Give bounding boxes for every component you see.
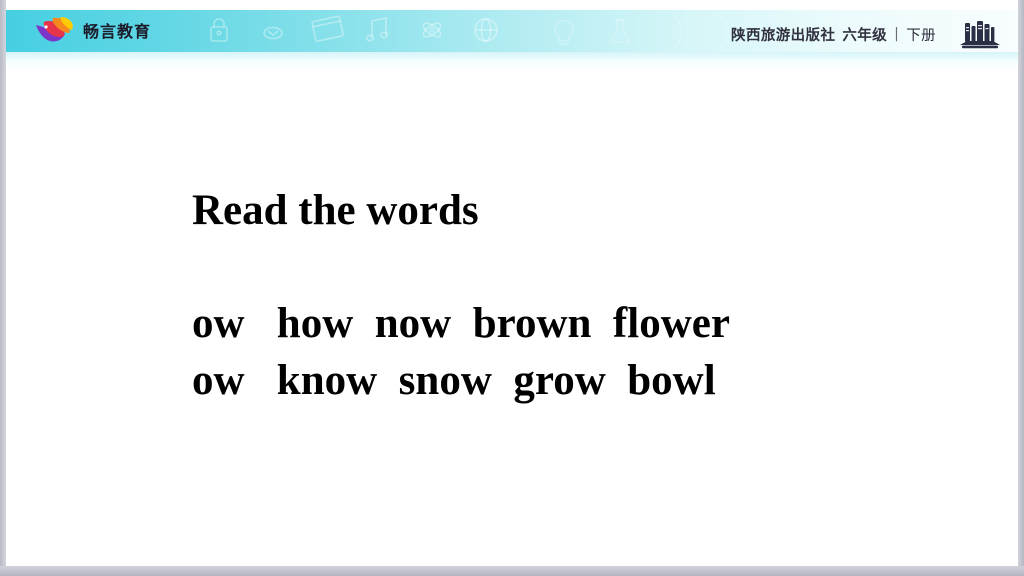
frame-edge-left [0,0,6,576]
separator: | [894,26,899,42]
publisher-name: 陕西旅游出版社 [731,24,835,45]
header-fade [6,52,1018,72]
brand-name: 畅言教育 [83,18,151,42]
page-title: Read the words [192,186,952,235]
word-row: ow how now brown flower [192,296,952,353]
volume-label: 下册 [906,24,936,45]
header-right-group: 陕西旅游出版社 六年级 | 下册 [731,18,1002,50]
bird-logo-icon [34,16,74,44]
grade-label: 六年级 [842,24,887,45]
books-icon[interactable] [958,18,1002,50]
word-list: ow how now brown flower ow know snow gro… [192,296,952,410]
slide-viewport: 畅言教育 陕西旅游出版社 六年级 | 下册 [0,0,1024,576]
brand-logo[interactable]: 畅言教育 [34,16,151,44]
slide-canvas: 畅言教育 陕西旅游出版社 六年级 | 下册 [6,0,1018,568]
publisher-info: 陕西旅游出版社 六年级 | 下册 [731,24,936,45]
word-row: ow know snow grow bowl [192,353,952,410]
slide-content: Read the words ow how now brown flower o… [192,186,952,410]
frame-edge-right [1018,0,1024,576]
frame-edge-bottom [0,566,1024,576]
